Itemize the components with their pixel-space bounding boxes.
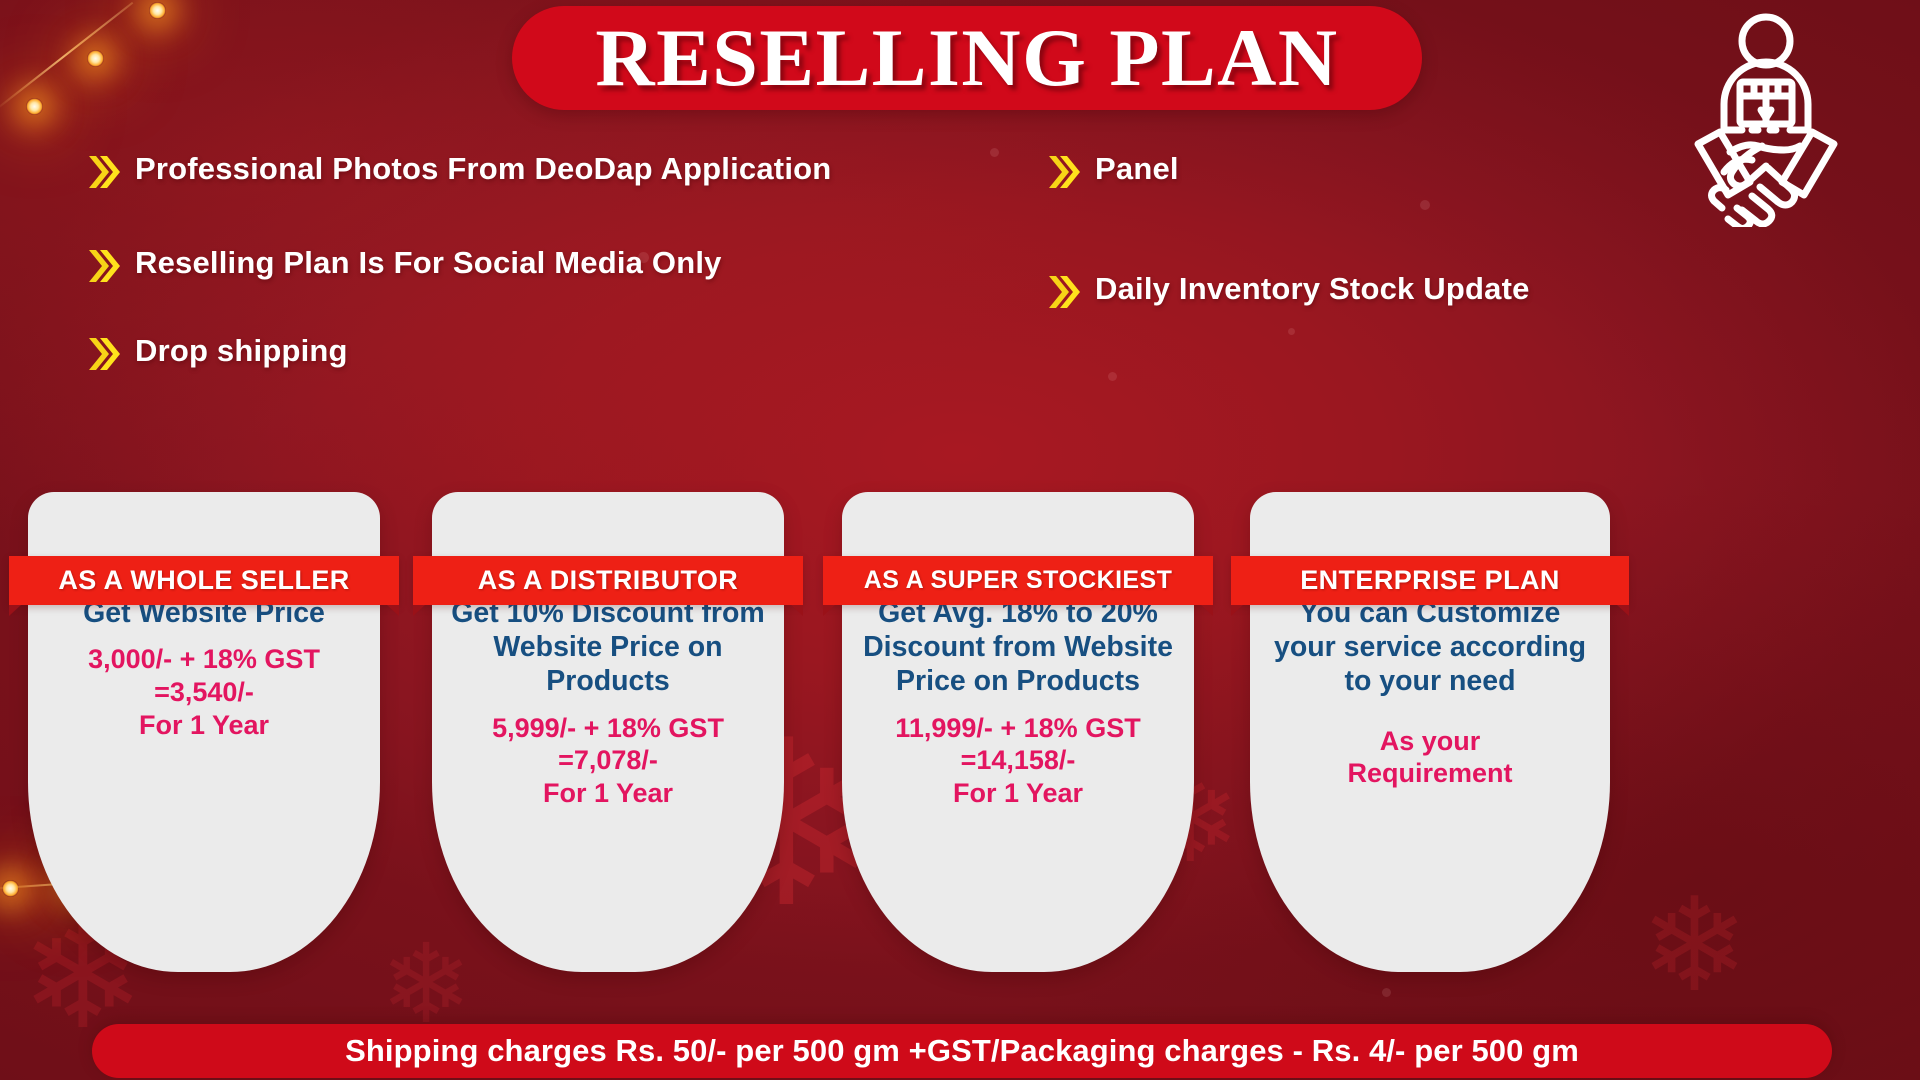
plan-price: 11,999/- + 18% GST =14,158/- For 1 Year bbox=[858, 712, 1178, 810]
plan-card-body: AS A WHOLE SELLER Get Website Price 3,00… bbox=[28, 492, 380, 972]
plan-price-line: For 1 Year bbox=[858, 777, 1178, 810]
plan-ribbon: ENTERPRISE PLAN bbox=[1231, 556, 1629, 605]
plan-price-line: Requirement bbox=[1266, 757, 1594, 790]
plan-card-enterprise[interactable]: ENTERPRISE PLAN You can Customize your s… bbox=[1250, 492, 1610, 972]
plan-price: 5,999/- + 18% GST =7,078/- For 1 Year bbox=[448, 712, 768, 810]
feature-label: Daily Inventory Stock Update bbox=[1095, 270, 1530, 308]
plan-headline: Get 10% Discount from Website Price on P… bbox=[448, 596, 768, 699]
plan-price-line: 11,999/- + 18% GST bbox=[858, 712, 1178, 745]
plan-ribbon-label: AS A SUPER STOCKIEST bbox=[864, 566, 1173, 595]
double-chevron-icon bbox=[1048, 152, 1082, 192]
plan-price: 3,000/- + 18% GST =3,540/- For 1 Year bbox=[44, 643, 364, 741]
page-title-banner: RESELLING PLAN bbox=[512, 6, 1422, 110]
plan-price-line: =14,158/- bbox=[858, 744, 1178, 777]
feature-label: Panel bbox=[1095, 150, 1179, 188]
plan-card-body: AS A SUPER STOCKIEST Get Avg. 18% to 20%… bbox=[842, 492, 1194, 972]
feature-item: Drop shipping bbox=[88, 332, 898, 374]
feature-label: Drop shipping bbox=[135, 332, 348, 370]
plan-price-line: For 1 Year bbox=[44, 709, 364, 742]
double-chevron-icon bbox=[1048, 272, 1082, 312]
plan-card-body: ENTERPRISE PLAN You can Customize your s… bbox=[1250, 492, 1610, 972]
feature-label: Professional Photos From DeoDap Applicat… bbox=[135, 150, 831, 188]
bokeh-dot bbox=[1108, 372, 1117, 381]
footer-banner: Shipping charges Rs. 50/- per 500 gm +GS… bbox=[92, 1024, 1832, 1078]
footer-text: Shipping charges Rs. 50/- per 500 gm +GS… bbox=[345, 1033, 1579, 1069]
plan-headline: Get Avg. 18% to 20% Discount from Websit… bbox=[858, 596, 1178, 699]
plan-card-super-stockiest[interactable]: AS A SUPER STOCKIEST Get Avg. 18% to 20%… bbox=[842, 492, 1194, 972]
plan-ribbon: AS A WHOLE SELLER bbox=[9, 556, 399, 605]
plan-price-line: As your bbox=[1266, 725, 1594, 758]
feature-column-left: Professional Photos From DeoDap Applicat… bbox=[88, 150, 898, 426]
feature-label: Reselling Plan Is For Social Media Only bbox=[135, 244, 722, 282]
double-chevron-icon bbox=[88, 334, 122, 374]
feature-item: Panel bbox=[1048, 150, 1668, 192]
bokeh-dot bbox=[1382, 988, 1391, 997]
plan-price: As your Requirement bbox=[1266, 725, 1594, 790]
plan-price-line: =7,078/- bbox=[448, 744, 768, 777]
feature-column-right: Panel Daily Inventory Stock Update bbox=[1048, 150, 1668, 364]
page-title: RESELLING PLAN bbox=[595, 11, 1338, 105]
bokeh-dot bbox=[990, 148, 999, 157]
feature-item: Reselling Plan Is For Social Media Only bbox=[88, 244, 898, 286]
plan-ribbon-label: ENTERPRISE PLAN bbox=[1300, 565, 1560, 596]
plan-price-line: =3,540/- bbox=[44, 676, 364, 709]
plan-card-body: AS A DISTRIBUTOR Get 10% Discount from W… bbox=[432, 492, 784, 972]
double-chevron-icon bbox=[88, 246, 122, 286]
plan-price-line: For 1 Year bbox=[448, 777, 768, 810]
plan-ribbon: AS A SUPER STOCKIEST bbox=[823, 556, 1213, 605]
plan-card-list: AS A WHOLE SELLER Get Website Price 3,00… bbox=[0, 492, 1920, 972]
plan-price-line: 5,999/- + 18% GST bbox=[448, 712, 768, 745]
plan-ribbon-label: AS A WHOLE SELLER bbox=[58, 565, 349, 596]
plan-headline: You can Customize your service according… bbox=[1266, 596, 1594, 699]
plan-card-whole-seller[interactable]: AS A WHOLE SELLER Get Website Price 3,00… bbox=[28, 492, 380, 972]
plan-price-line: 3,000/- + 18% GST bbox=[44, 643, 364, 676]
feature-item: Professional Photos From DeoDap Applicat… bbox=[88, 150, 898, 192]
feature-item: Daily Inventory Stock Update bbox=[1048, 270, 1668, 312]
double-chevron-icon bbox=[88, 152, 122, 192]
plan-card-distributor[interactable]: AS A DISTRIBUTOR Get 10% Discount from W… bbox=[432, 492, 784, 972]
plan-ribbon: AS A DISTRIBUTOR bbox=[413, 556, 803, 605]
handshake-delivery-icon bbox=[1666, 12, 1866, 227]
plan-ribbon-label: AS A DISTRIBUTOR bbox=[478, 565, 738, 596]
